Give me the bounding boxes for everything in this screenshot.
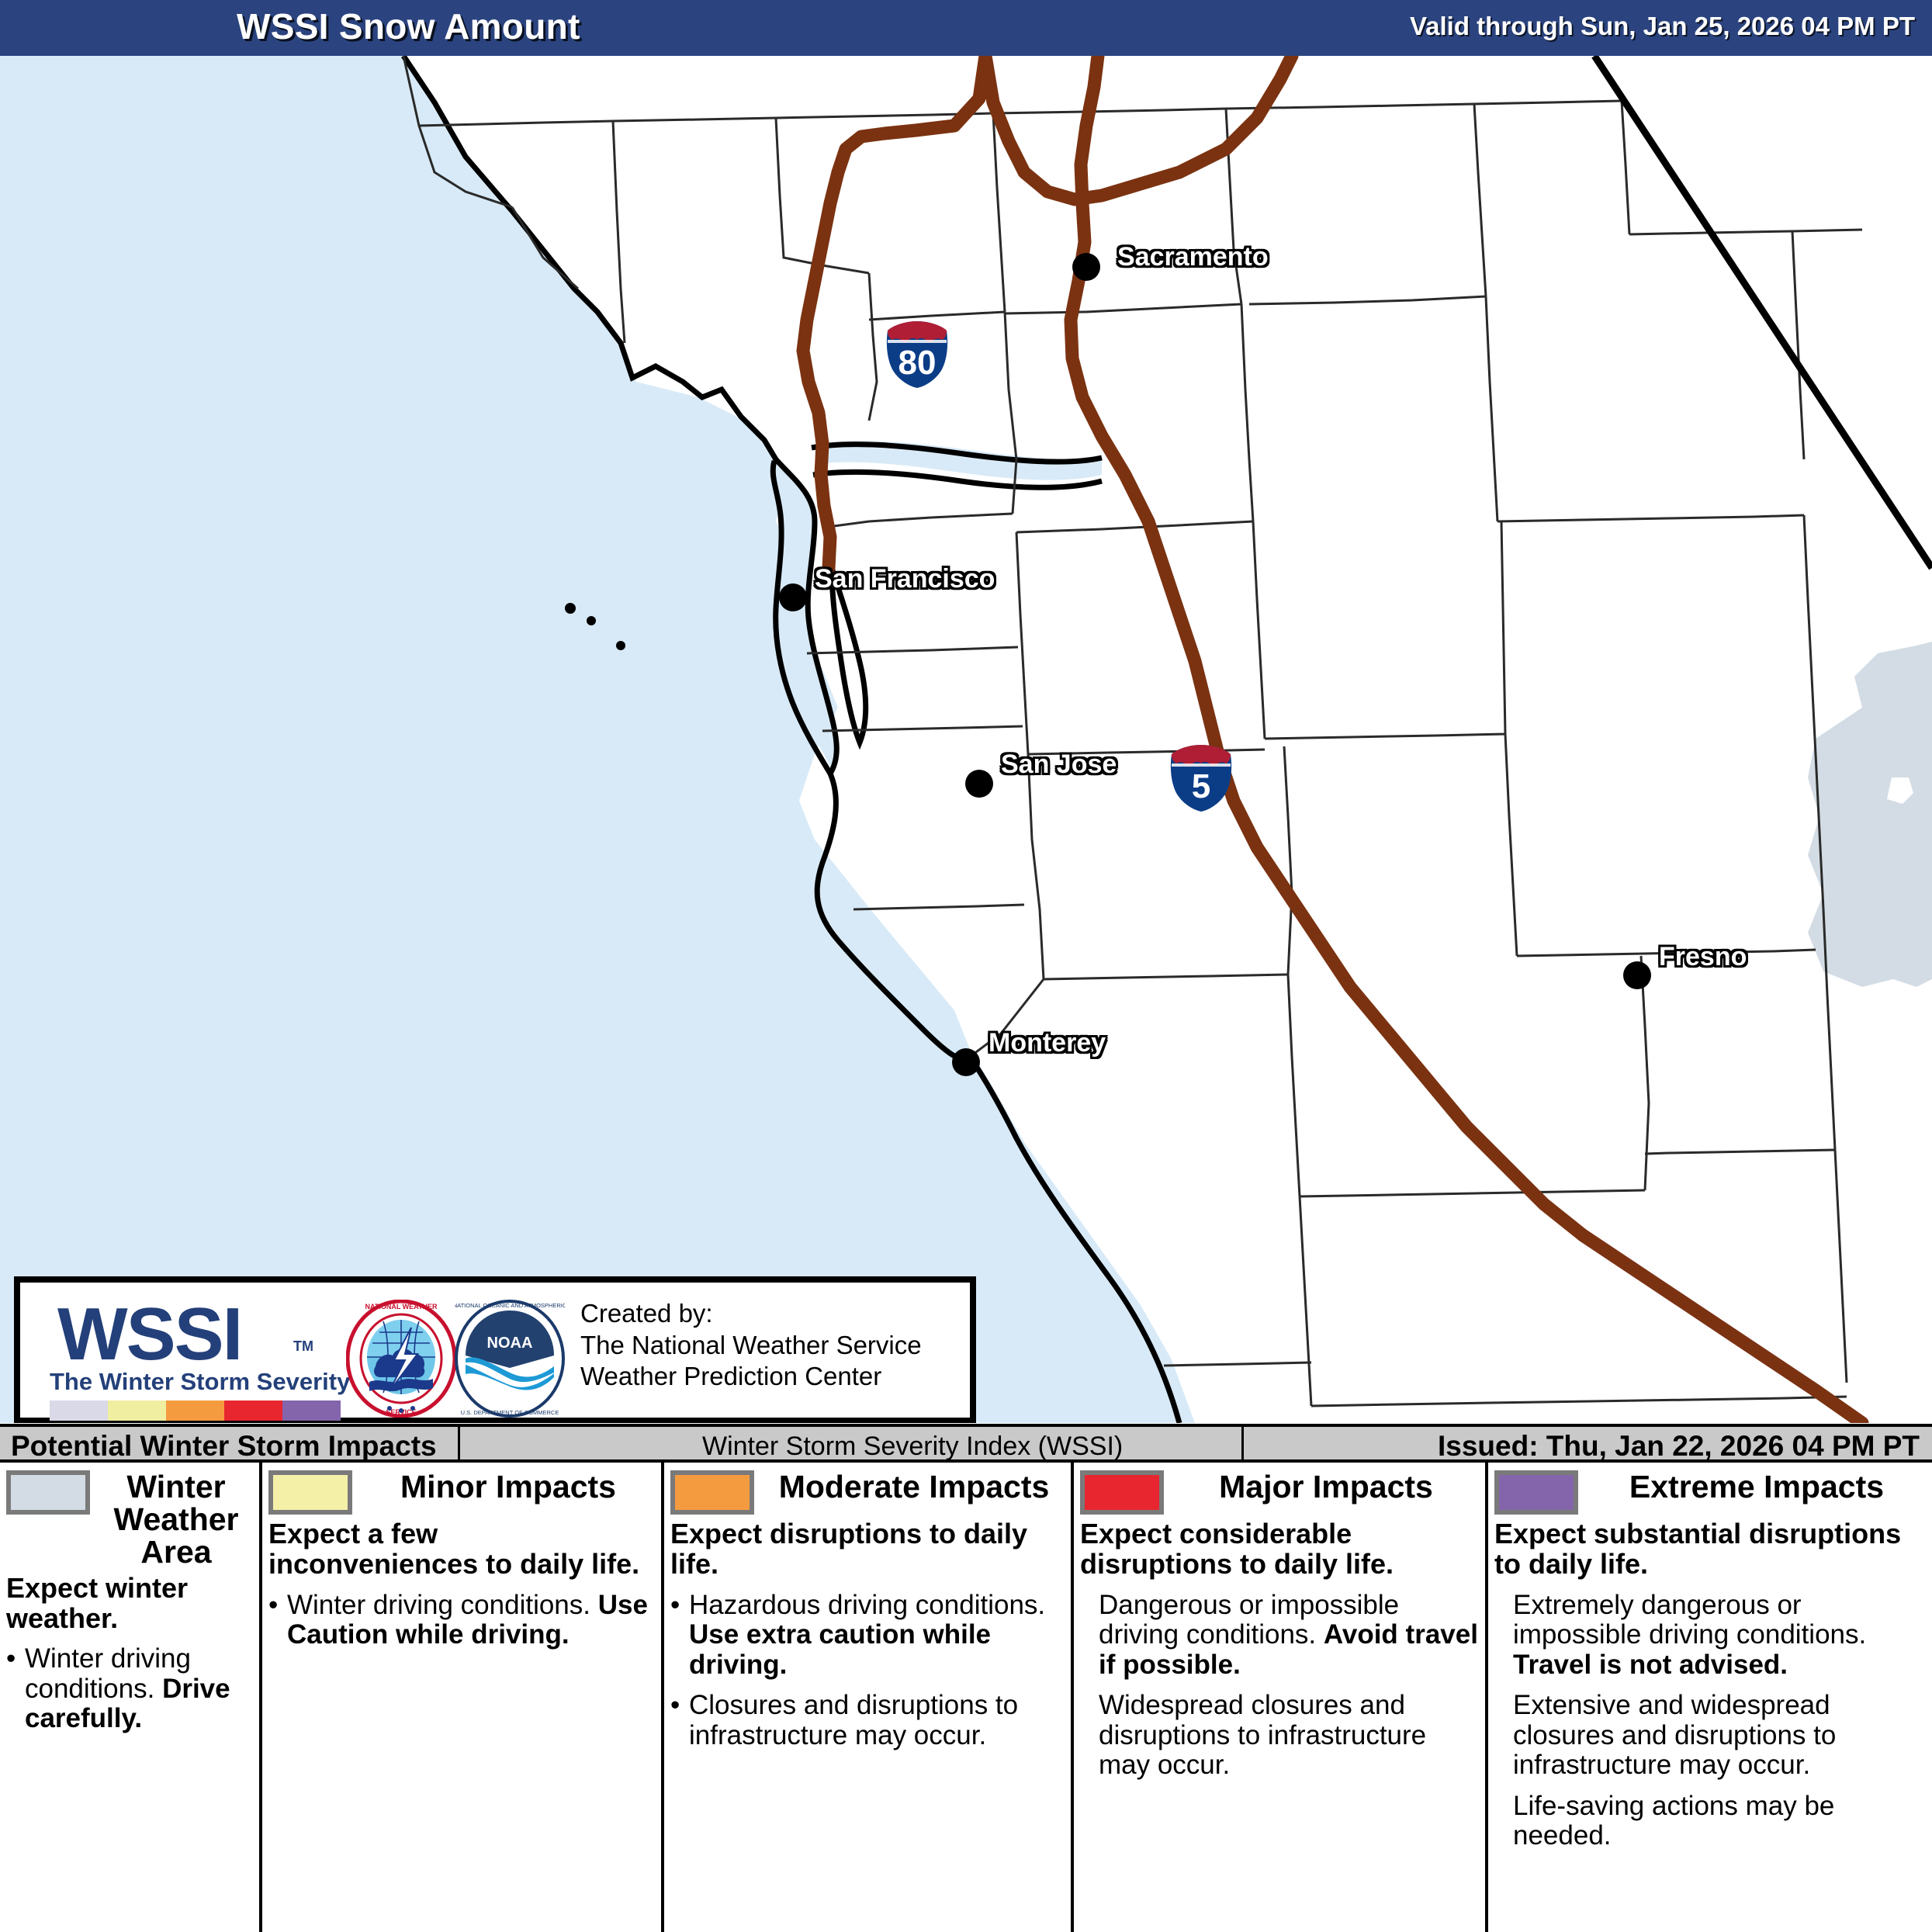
legend-intro: Expect disruptions to daily life.: [670, 1519, 1065, 1580]
legend-bullet: • Extensive and widespread closures and …: [1494, 1691, 1926, 1781]
legend-column-minor-impacts[interactable]: Minor Impacts Expect a few inconvenience…: [262, 1463, 664, 1932]
status-bar-left-label: Potential Winter Storm Impacts: [11, 1430, 437, 1463]
status-bar-divider-1: [458, 1427, 460, 1459]
page-title: WSSI Snow Amount: [237, 5, 580, 47]
legend-bullet: • Extremely dangerous or impossible driv…: [1494, 1591, 1926, 1681]
scale-swatch-moderate: [166, 1401, 224, 1421]
legend-bullet: • Life-saving actions may be needed.: [1494, 1792, 1926, 1851]
svg-text:U.S. DEPARTMENT OF COMMERCE: U.S. DEPARTMENT OF COMMERCE: [461, 1409, 559, 1416]
city-dot-sacramento: [1072, 253, 1100, 281]
legend-intro: Expect substantial disruptions to daily …: [1494, 1519, 1926, 1580]
city-dot-fresno: [1623, 961, 1651, 989]
legend-header: Minor Impacts: [268, 1470, 655, 1515]
legend-swatch-extreme-impacts: [1494, 1470, 1578, 1515]
bullet-text: Hazardous driving conditions. Use extra …: [689, 1591, 1065, 1681]
bullet-dot: •: [268, 1591, 287, 1650]
map-canvas[interactable]: Sacramento San Francisco San Jose Fresno…: [0, 56, 1932, 1423]
status-bar-issued-label: Issued: Thu, Jan 22, 2026 04 PM PT: [1438, 1430, 1920, 1463]
created-by-text: Created by: The National Weather Service…: [580, 1298, 922, 1393]
trademark-symbol: TM: [293, 1338, 313, 1355]
legend-intro: Expect a few inconveniences to daily lif…: [268, 1519, 655, 1580]
city-label-monterey: Monterey: [989, 1028, 1106, 1058]
svg-text:NATIONAL OCEANIC AND ATMOSPHER: NATIONAL OCEANIC AND ATMOSPHERIC: [455, 1302, 565, 1309]
map-graphics: [0, 56, 1932, 1423]
bullet-text: Dangerous or impossible driving conditio…: [1099, 1591, 1479, 1681]
legend-title: Minor Impacts: [362, 1470, 655, 1503]
legend-column-extreme-impacts[interactable]: Extreme Impacts Expect substantial disru…: [1488, 1463, 1932, 1932]
scale-swatch-major: [224, 1401, 282, 1421]
legend-bullet: • Widespread closures and disruptions to…: [1080, 1691, 1479, 1781]
city-dot-monterey: [952, 1048, 980, 1076]
bullet-text: Winter driving conditions. Use Caution w…: [287, 1591, 655, 1650]
legend-bullet: • Winter driving conditions. Drive caref…: [6, 1644, 253, 1734]
city-label-san-francisco: San Francisco: [815, 564, 995, 594]
legend-bullet: • Winter driving conditions. Use Caution…: [268, 1591, 655, 1650]
legend-intro: Expect winter weather.: [6, 1574, 253, 1634]
legend-header: Winter Weather Area: [6, 1470, 253, 1569]
noaa-seal: NOAA NATIONAL OCEANIC AND ATMOSPHERIC U.…: [455, 1300, 565, 1418]
legend-column-winter-weather-area[interactable]: Winter Weather Area Expect winter weathe…: [0, 1463, 262, 1932]
legend-column-major-impacts[interactable]: Major Impacts Expect considerable disrup…: [1074, 1463, 1488, 1932]
legend-title: Moderate Impacts: [763, 1470, 1065, 1503]
legend-intro: Expect considerable disruptions to daily…: [1080, 1519, 1479, 1580]
bullet-text: Winter driving conditions. Drive careful…: [25, 1644, 253, 1734]
wssi-logo-box: WSSI TM The Winter Storm Severity Index: [14, 1276, 976, 1423]
bullet-text: Extensive and widespread closures and di…: [1513, 1691, 1926, 1781]
legend-swatch-minor-impacts: [268, 1470, 352, 1515]
legend-header: Major Impacts: [1080, 1470, 1479, 1515]
interstate-number-5: 5: [1169, 767, 1234, 806]
interstate-number-80: 80: [885, 344, 950, 383]
wssi-wordmark: WSSI: [57, 1292, 241, 1377]
status-bar-middle-label: Winter Storm Severity Index (WSSI): [702, 1432, 1123, 1462]
legend-header: Extreme Impacts: [1494, 1470, 1926, 1515]
interstate-shield-icon-80: 80: [885, 320, 950, 390]
status-bar: Potential Winter Storm Impacts Winter St…: [0, 1424, 1932, 1463]
legend-bullet: • Closures and disruptions to infrastruc…: [670, 1691, 1065, 1750]
interstate-shield-icon-5: 5: [1169, 743, 1234, 813]
city-dot-san-francisco: [779, 583, 807, 611]
legend-title: Major Impacts: [1173, 1470, 1479, 1503]
farallon-island-3: [616, 641, 625, 650]
legend-swatch-winter-weather-area: [6, 1470, 90, 1515]
national-weather-service-seal: NATIONAL WEATHER SERVICE: [346, 1300, 456, 1418]
noaa-wordmark: NOAA: [487, 1335, 533, 1352]
wssi-color-scale: [50, 1401, 341, 1421]
legend-swatch-moderate-impacts: [670, 1470, 754, 1515]
farallon-island: [565, 603, 576, 614]
city-label-san-jose: San Jose: [1001, 750, 1117, 780]
impact-legend: Winter Weather Area Expect winter weathe…: [0, 1463, 1932, 1932]
valid-through-text: Valid through Sun, Jan 25, 2026 04 PM PT: [1410, 12, 1915, 41]
status-bar-divider-2: [1241, 1427, 1244, 1459]
legend-title: Extreme Impacts: [1587, 1470, 1926, 1503]
wssi-snow-amount-map-page: WSSI Snow Amount Valid through Sun, Jan …: [0, 0, 1932, 1932]
legend-swatch-major-impacts: [1080, 1470, 1164, 1515]
city-label-fresno: Fresno: [1659, 942, 1747, 972]
bullet-text: Closures and disruptions to infrastructu…: [689, 1691, 1065, 1750]
bullet-dot: •: [670, 1691, 689, 1750]
legend-title: Winter Weather Area: [99, 1470, 253, 1569]
city-label-sacramento: Sacramento: [1117, 242, 1269, 272]
page-header: WSSI Snow Amount Valid through Sun, Jan …: [0, 0, 1932, 56]
legend-bullet: • Dangerous or impossible driving condit…: [1080, 1591, 1479, 1681]
legend-header: Moderate Impacts: [670, 1470, 1065, 1515]
svg-text:NATIONAL WEATHER: NATIONAL WEATHER: [365, 1303, 438, 1311]
farallon-island-2: [587, 616, 596, 625]
legend-column-moderate-impacts[interactable]: Moderate Impacts Expect disruptions to d…: [664, 1463, 1074, 1932]
bullet-text: Life-saving actions may be needed.: [1513, 1792, 1926, 1851]
scale-swatch-winter-weather: [50, 1401, 108, 1421]
scale-swatch-extreme: [282, 1401, 341, 1421]
legend-bullet: • Hazardous driving conditions. Use extr…: [670, 1591, 1065, 1681]
bullet-dot: •: [6, 1644, 25, 1734]
city-dot-san-jose: [965, 770, 993, 798]
bullet-text: Extremely dangerous or impossible drivin…: [1513, 1591, 1926, 1681]
bullet-text: Widespread closures and disruptions to i…: [1099, 1691, 1479, 1781]
scale-swatch-minor: [108, 1401, 166, 1421]
bullet-dot: •: [670, 1591, 689, 1681]
